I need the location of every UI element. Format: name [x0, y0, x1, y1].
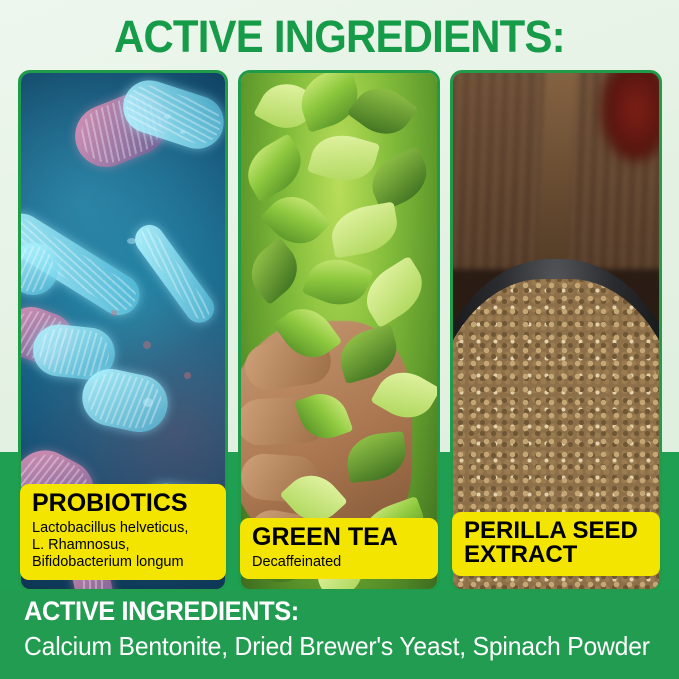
label-probiotics: PROBIOTICS Lactobacillus helveticus, L. …: [20, 484, 226, 580]
footer-heading: ACTIVE INGREDIENTS:: [24, 596, 640, 626]
green-tea-image: [241, 73, 437, 589]
ingredient-panel-green-tea: [238, 70, 440, 592]
label-subtitle: Decaffeinated: [252, 554, 428, 571]
header: ACTIVE INGREDIENTS:: [0, 0, 679, 72]
label-green-tea: GREEN TEA Decaffeinated: [240, 518, 438, 579]
footer-ingredient-list: Calcium Bentonite, Dried Brewer's Yeast,…: [24, 631, 646, 662]
page-title: ACTIVE INGREDIENTS:: [114, 14, 565, 59]
label-subtitle: Lactobacillus helveticus, L. Rhamnosus, …: [32, 520, 216, 572]
footer: ACTIVE INGREDIENTS: Calcium Bentonite, D…: [0, 596, 679, 662]
active-ingredients-infographic: ACTIVE INGREDIENTS:: [0, 0, 679, 679]
label-title: PERILLA SEED EXTRACT: [464, 519, 650, 568]
label-perilla-seed: PERILLA SEED EXTRACT: [452, 512, 660, 576]
particle: [180, 130, 185, 134]
label-title: GREEN TEA: [252, 525, 428, 551]
label-title: PROBIOTICS: [32, 491, 216, 517]
